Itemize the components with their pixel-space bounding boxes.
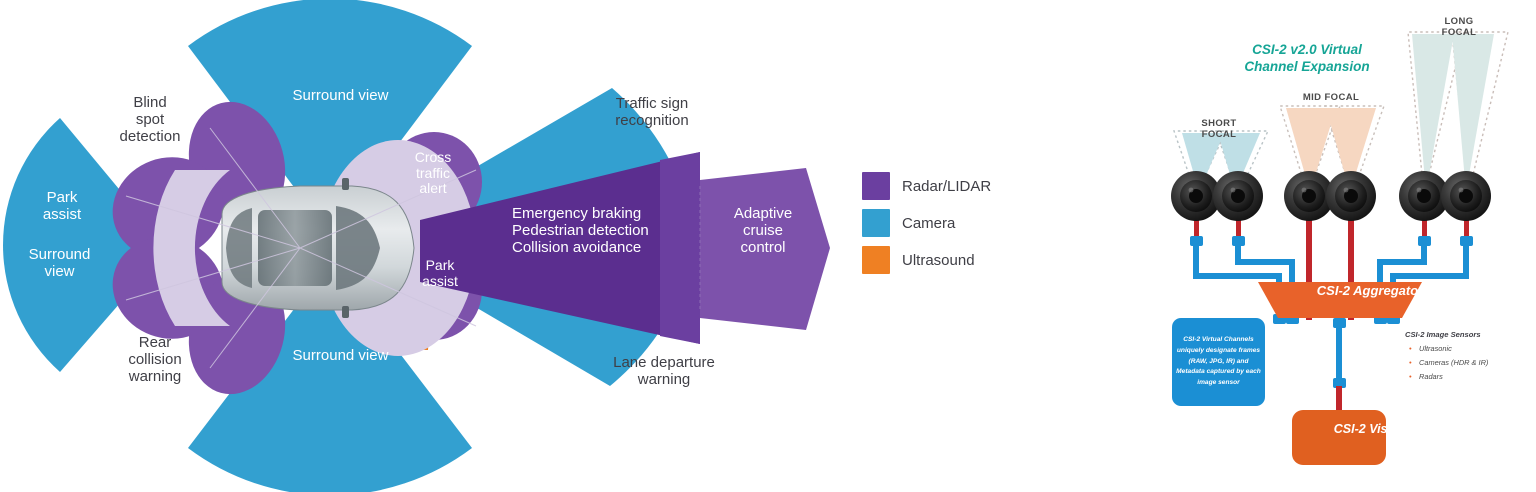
camera-modules (1171, 171, 1491, 221)
cable-connector-s1 (1190, 236, 1203, 246)
label-emergency-braking-group: Emergency braking Pedestrian detection C… (512, 206, 727, 256)
label-surround-view-top: Surround view (258, 88, 423, 105)
csi2-architecture-diagram: CSI-2 v2.0 Virtual Channel Expansion SHO… (1140, 0, 1536, 492)
legend-swatch-camera (862, 209, 890, 237)
cable-connector-l2 (1460, 236, 1473, 246)
legend-label-ultrasound: Ultrasound (902, 252, 975, 269)
legend-item-ultrasound: Ultrasound (862, 246, 991, 274)
camera-module-long-2 (1441, 171, 1491, 221)
label-lane-departure-warning: Lane departure warning (594, 355, 734, 389)
label-long-focal: LONG FOCAL (1426, 16, 1492, 38)
label-surround-view-left: Surround view (12, 247, 107, 281)
long-focal-cone-left (1412, 34, 1454, 192)
legend-swatch-ultrasound (862, 246, 890, 274)
car-top-view (222, 178, 414, 318)
camera-module-mid-2 (1326, 171, 1376, 221)
label-blind-spot-detection: Blind spot detection (95, 95, 205, 145)
car-roof (258, 210, 332, 286)
vision-label: CSI-2 Vision (1310, 422, 1430, 436)
car-mirror-top (342, 178, 349, 190)
virtual-channels-note-box: CSI-2 Virtual Channels uniquely designat… (1172, 318, 1265, 406)
label-short-focal: SHORT FOCAL (1186, 118, 1252, 140)
csi2-title: CSI-2 v2.0 Virtual Channel Expansion (1232, 42, 1382, 76)
virtual-channels-note-text: CSI-2 Virtual Channels uniquely designat… (1176, 335, 1261, 388)
camera-module-short-2 (1213, 171, 1263, 221)
vision-box (1292, 410, 1386, 465)
image-sensors-heading: CSI-2 Image Sensors (1405, 330, 1525, 339)
label-adaptive-cruise-control: Adaptive cruise control (718, 206, 808, 256)
label-surround-view-bottom: Surround view (258, 348, 423, 365)
cable-connector-s2 (1232, 236, 1245, 246)
legend-item-camera: Camera (862, 209, 991, 237)
sensor-legend: Radar/LIDAR Camera Ultrasound (862, 172, 991, 283)
cable-aggregator-to-vision (1333, 318, 1346, 414)
aggregator-label: CSI-2 Aggregator (1310, 283, 1430, 298)
legend-swatch-radar-lidar (862, 172, 890, 200)
label-mid-focal: MID FOCAL (1298, 92, 1364, 103)
label-park-assist-left: Park assist (22, 190, 102, 224)
image-sensors-list: CSI-2 Image Sensors Ultrasonic Cameras (… (1405, 330, 1525, 386)
car-mirror-bottom (342, 306, 349, 318)
adas-sensor-diagram: Blind spot detection Surround view Traff… (0, 0, 1140, 492)
label-cross-traffic-alert: Cross traffic alert (398, 150, 468, 197)
image-sensor-item-radars: Radars (1419, 372, 1525, 381)
image-sensor-item-cameras: Cameras (HDR & IR) (1419, 358, 1525, 367)
cable-connector-l1 (1418, 236, 1431, 246)
label-rear-collision-warning: Rear collision warning (100, 335, 210, 385)
label-park-assist-right: Park assist (405, 258, 475, 289)
legend-label-radar-lidar: Radar/LIDAR (902, 178, 991, 195)
long-focal-cones (1408, 32, 1508, 195)
label-traffic-sign-recognition: Traffic sign recognition (592, 96, 712, 130)
legend-item-radar-lidar: Radar/LIDAR (862, 172, 991, 200)
image-sensor-item-ultrasonic: Ultrasonic (1419, 344, 1525, 353)
legend-label-camera: Camera (902, 215, 955, 232)
